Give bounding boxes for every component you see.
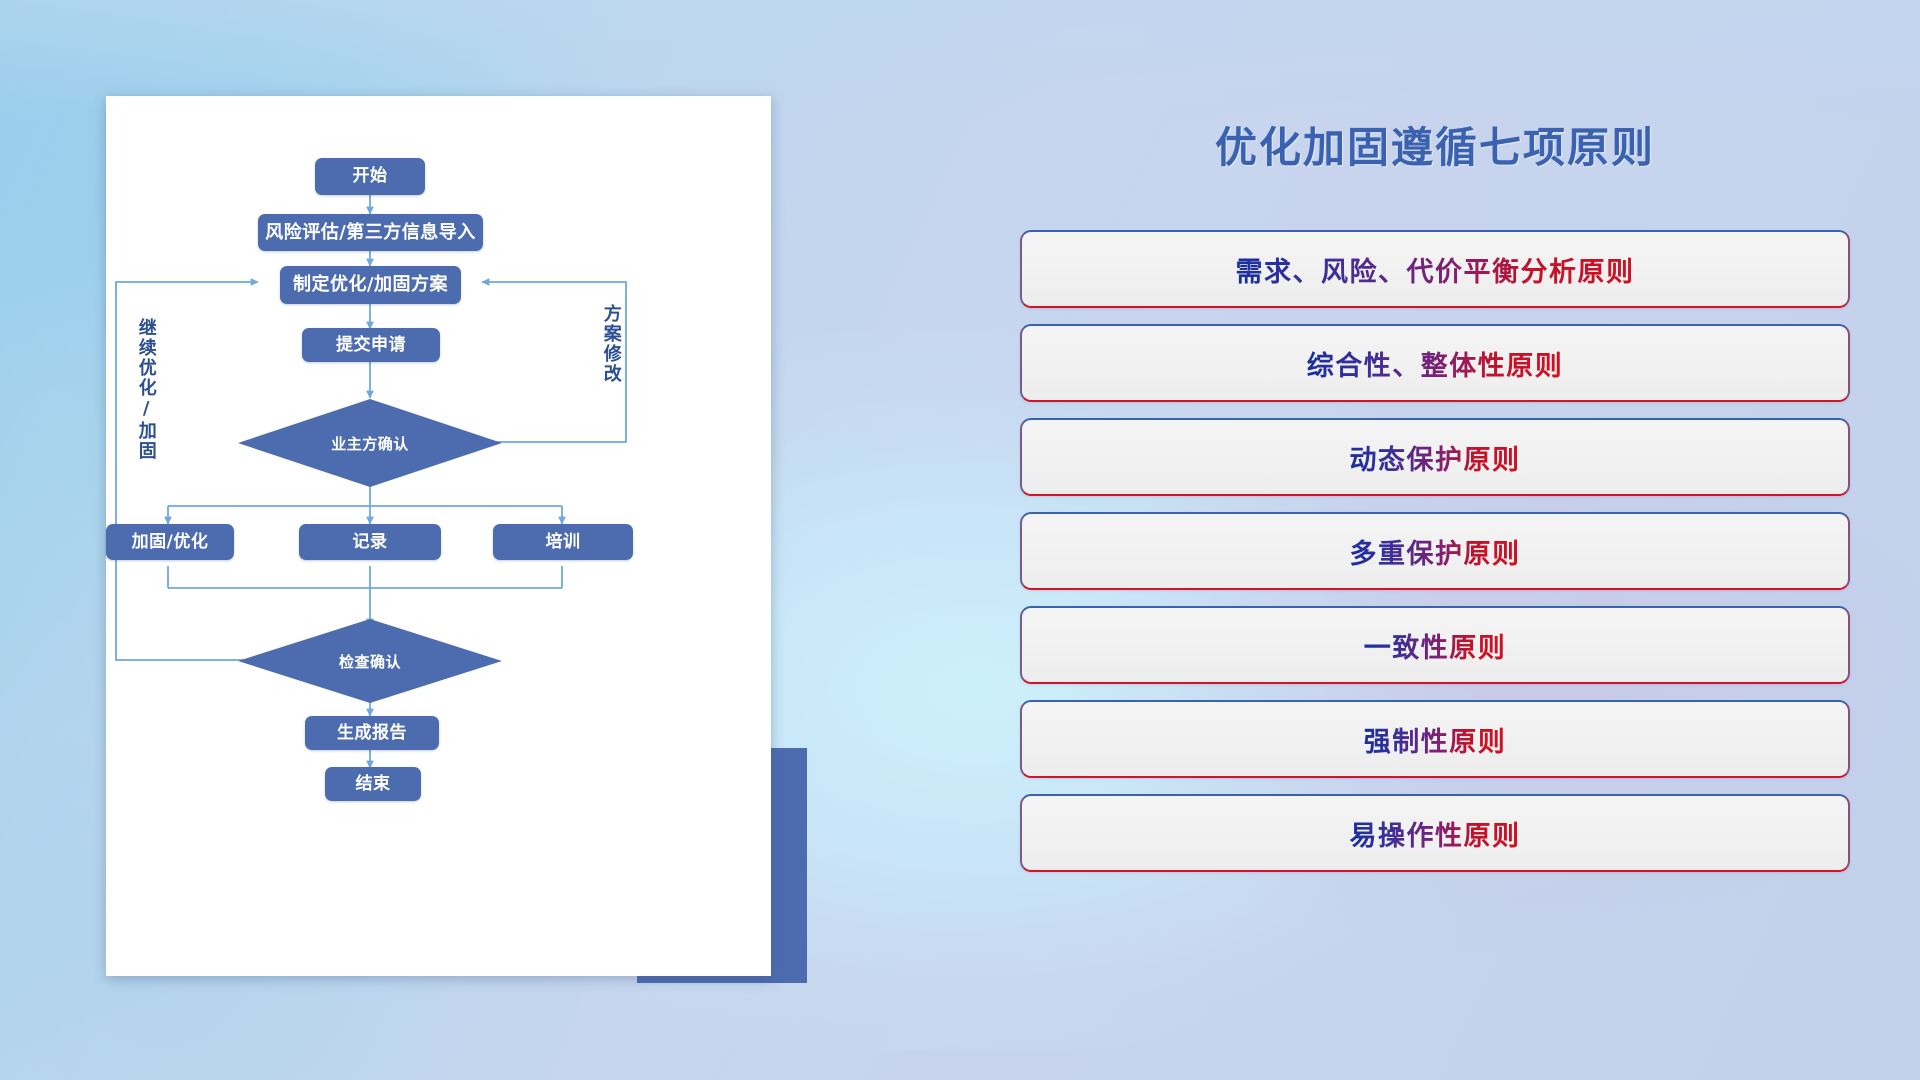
principle-item-2[interactable]: 综合性、整体性原则	[1020, 324, 1850, 402]
principle-item-4[interactable]: 多重保护原则	[1020, 512, 1850, 590]
principle-item-3[interactable]: 动态保护原则	[1020, 418, 1850, 496]
slide-canvas: 开始 风险评估/第三方信息导入 制定优化/加固方案 提交申请 业主方确认 加固/…	[0, 0, 1920, 1080]
principle-label: 动态保护原则	[1350, 438, 1521, 477]
flow-node-risk-assessment[interactable]: 风险评估/第三方信息导入	[258, 214, 483, 251]
flow-node-make-plan[interactable]: 制定优化/加固方案	[280, 266, 461, 304]
flow-node-check-confirm-label: 检查确认	[236, 617, 504, 705]
flow-node-start[interactable]: 开始	[315, 158, 425, 195]
principle-label: 易操作性原则	[1350, 814, 1521, 853]
principle-item-1[interactable]: 需求、风险、代价平衡分析原则	[1020, 230, 1850, 308]
principle-label: 一致性原则	[1364, 626, 1507, 665]
flowchart-card: 开始 风险评估/第三方信息导入 制定优化/加固方案 提交申请 业主方确认 加固/…	[106, 96, 771, 976]
flowchart: 开始 风险评估/第三方信息导入 制定优化/加固方案 提交申请 业主方确认 加固/…	[106, 96, 771, 976]
principles-panel: 优化加固遵循七项原则 需求、风险、代价平衡分析原则 综合性、整体性原则 动态保护…	[1020, 96, 1850, 996]
principle-label: 综合性、整体性原则	[1307, 344, 1564, 383]
flow-node-owner-confirm[interactable]: 业主方确认	[236, 397, 504, 489]
flow-node-record[interactable]: 记录	[299, 524, 441, 560]
flow-node-end[interactable]: 结束	[325, 767, 421, 801]
flow-node-reinforce-optimize[interactable]: 加固/优化	[106, 524, 234, 560]
flow-node-training[interactable]: 培训	[493, 524, 633, 560]
principle-item-6[interactable]: 强制性原则	[1020, 700, 1850, 778]
flow-node-owner-confirm-label: 业主方确认	[236, 397, 504, 489]
principle-label: 强制性原则	[1364, 720, 1507, 759]
flow-node-submit-application[interactable]: 提交申请	[302, 328, 440, 362]
principle-label: 需求、风险、代价平衡分析原则	[1236, 250, 1635, 289]
principles-list: 需求、风险、代价平衡分析原则 综合性、整体性原则 动态保护原则 多重保护原则 一…	[1020, 230, 1850, 888]
principle-item-7[interactable]: 易操作性原则	[1020, 794, 1850, 872]
flow-edge-label-plan-revision: 方案修改	[601, 304, 620, 384]
flow-node-generate-report[interactable]: 生成报告	[305, 716, 439, 750]
principle-item-5[interactable]: 一致性原则	[1020, 606, 1850, 684]
panel-title: 优化加固遵循七项原则	[1020, 114, 1850, 175]
principle-label: 多重保护原则	[1350, 532, 1521, 571]
flow-edge-label-continue-optimize: 继续优化/加固	[136, 318, 155, 461]
flow-node-check-confirm[interactable]: 检查确认	[236, 617, 504, 705]
